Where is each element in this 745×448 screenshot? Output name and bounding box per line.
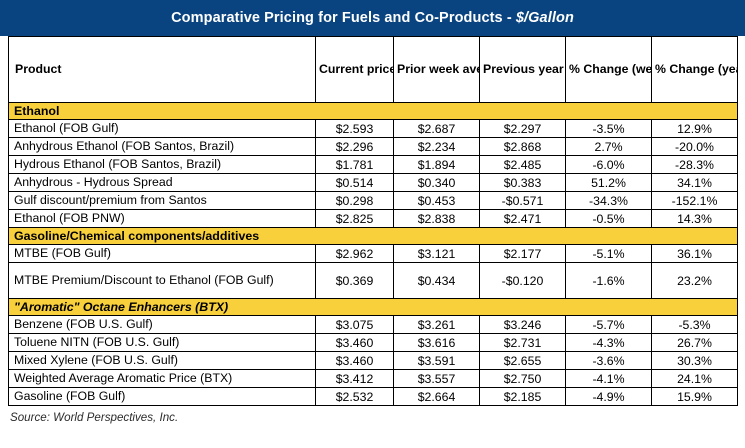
section-header-label: Ethanol <box>9 103 738 120</box>
table-row: Anhydrous - Hydrous Spread$0.514$0.340$0… <box>9 174 738 192</box>
cell-current-price: $0.369 <box>316 263 394 299</box>
cell-pct-change-year: 30.3% <box>652 352 738 370</box>
table-row: Anhydrous Ethanol (FOB Santos, Brazil)$2… <box>9 138 738 156</box>
table-row: Mixed Xylene (FOB U.S. Gulf)$3.460$3.591… <box>9 352 738 370</box>
cell-pct-change-week: 2.7% <box>566 138 652 156</box>
cell-pct-change-week: -4.3% <box>566 334 652 352</box>
cell-pct-change-week: -0.5% <box>566 210 652 228</box>
cell-current-price: $2.532 <box>316 388 394 406</box>
cell-pct-change-year: 36.1% <box>652 245 738 263</box>
table-body: EthanolEthanol (FOB Gulf)$2.593$2.687$2.… <box>9 103 738 406</box>
cell-current-price: $0.298 <box>316 192 394 210</box>
cell-current-price: $2.593 <box>316 120 394 138</box>
cell-prior-week-average: $0.434 <box>394 263 480 299</box>
cell-pct-change-year: 15.9% <box>652 388 738 406</box>
cell-previous-year: $2.471 <box>480 210 566 228</box>
cell-prior-week-average: $3.616 <box>394 334 480 352</box>
cell-product: Toluene NITN (FOB U.S. Gulf) <box>9 334 316 352</box>
table-header-row: Product Current price Prior week average… <box>9 37 738 103</box>
cell-current-price: $3.412 <box>316 370 394 388</box>
cell-previous-year: $2.731 <box>480 334 566 352</box>
table-row: Benzene (FOB U.S. Gulf)$3.075$3.261$3.24… <box>9 316 738 334</box>
cell-current-price: $0.514 <box>316 174 394 192</box>
cell-pct-change-week: -4.1% <box>566 370 652 388</box>
cell-product: Anhydrous - Hydrous Spread <box>9 174 316 192</box>
cell-previous-year: $2.485 <box>480 156 566 174</box>
section-header-label: Gasoline/Chemical components/additives <box>9 228 738 245</box>
column-header-current-price: Current price <box>316 37 394 103</box>
table-row: Ethanol (FOB PNW)$2.825$2.838$2.471-0.5%… <box>9 210 738 228</box>
cell-pct-change-year: -5.3% <box>652 316 738 334</box>
cell-pct-change-week: -6.0% <box>566 156 652 174</box>
cell-current-price: $3.460 <box>316 352 394 370</box>
cell-product: Mixed Xylene (FOB U.S. Gulf) <box>9 352 316 370</box>
cell-current-price: $2.296 <box>316 138 394 156</box>
cell-current-price: $3.075 <box>316 316 394 334</box>
cell-prior-week-average: $2.687 <box>394 120 480 138</box>
table-row: Gulf discount/premium from Santos$0.298$… <box>9 192 738 210</box>
cell-current-price: $1.781 <box>316 156 394 174</box>
cell-pct-change-week: -4.9% <box>566 388 652 406</box>
table-row: MTBE (FOB Gulf)$2.962$3.121$2.177-5.1%36… <box>9 245 738 263</box>
cell-current-price: $3.460 <box>316 334 394 352</box>
cell-prior-week-average: $1.894 <box>394 156 480 174</box>
cell-previous-year: $2.177 <box>480 245 566 263</box>
table-title-bar: Comparative Pricing for Fuels and Co-Pro… <box>0 0 745 36</box>
column-header-product: Product <box>9 37 316 103</box>
pricing-table-page: Comparative Pricing for Fuels and Co-Pro… <box>0 0 745 448</box>
cell-product: Hydrous Ethanol (FOB Santos, Brazil) <box>9 156 316 174</box>
cell-pct-change-year: -28.3% <box>652 156 738 174</box>
table-row: Toluene NITN (FOB U.S. Gulf)$3.460$3.616… <box>9 334 738 352</box>
section-header-row: Ethanol <box>9 103 738 120</box>
cell-product: Gasoline (FOB Gulf) <box>9 388 316 406</box>
section-header-row: Gasoline/Chemical components/additives <box>9 228 738 245</box>
cell-pct-change-year: 23.2% <box>652 263 738 299</box>
cell-previous-year: $2.655 <box>480 352 566 370</box>
cell-prior-week-average: $3.261 <box>394 316 480 334</box>
cell-prior-week-average: $0.453 <box>394 192 480 210</box>
cell-prior-week-average: $0.340 <box>394 174 480 192</box>
table-title-text: Comparative Pricing for Fuels and Co-Pro… <box>171 10 574 26</box>
table-row: Ethanol (FOB Gulf)$2.593$2.687$2.297-3.5… <box>9 120 738 138</box>
comparative-pricing-table: Product Current price Prior week average… <box>8 36 738 406</box>
cell-previous-year: $0.383 <box>480 174 566 192</box>
table-title-normal: Comparative Pricing for Fuels and Co-Pro… <box>171 10 516 26</box>
cell-previous-year: $2.297 <box>480 120 566 138</box>
cell-product: Ethanol (FOB PNW) <box>9 210 316 228</box>
cell-product: Anhydrous Ethanol (FOB Santos, Brazil) <box>9 138 316 156</box>
cell-previous-year: -$0.120 <box>480 263 566 299</box>
section-header-label: "Aromatic" Octane Enhancers (BTX) <box>9 299 738 316</box>
cell-previous-year: $2.185 <box>480 388 566 406</box>
table-row: Gasoline (FOB Gulf)$2.532$2.664$2.185-4.… <box>9 388 738 406</box>
table-row: Weighted Average Aromatic Price (BTX)$3.… <box>9 370 738 388</box>
cell-current-price: $2.962 <box>316 245 394 263</box>
table-header: Product Current price Prior week average… <box>9 37 738 103</box>
cell-pct-change-week: -34.3% <box>566 192 652 210</box>
cell-pct-change-year: -20.0% <box>652 138 738 156</box>
cell-pct-change-week: -5.7% <box>566 316 652 334</box>
cell-current-price: $2.825 <box>316 210 394 228</box>
cell-pct-change-week: 51.2% <box>566 174 652 192</box>
cell-product: Benzene (FOB U.S. Gulf) <box>9 316 316 334</box>
column-header-previous-year: Previous year <box>480 37 566 103</box>
cell-prior-week-average: $3.591 <box>394 352 480 370</box>
column-header-prior-week-average: Prior week average <box>394 37 480 103</box>
cell-prior-week-average: $2.234 <box>394 138 480 156</box>
cell-pct-change-week: -3.6% <box>566 352 652 370</box>
table-title-italic: $/Gallon <box>516 10 574 26</box>
column-header-pct-change-week: % Change (week over week) <box>566 37 652 103</box>
cell-pct-change-year: 26.7% <box>652 334 738 352</box>
table-row: Hydrous Ethanol (FOB Santos, Brazil)$1.7… <box>9 156 738 174</box>
cell-product: Weighted Average Aromatic Price (BTX) <box>9 370 316 388</box>
cell-pct-change-year: 14.3% <box>652 210 738 228</box>
cell-prior-week-average: $3.121 <box>394 245 480 263</box>
cell-prior-week-average: $2.838 <box>394 210 480 228</box>
cell-product: Gulf discount/premium from Santos <box>9 192 316 210</box>
cell-product: MTBE (FOB Gulf) <box>9 245 316 263</box>
table-row: MTBE Premium/Discount to Ethanol (FOB Gu… <box>9 263 738 299</box>
column-header-pct-change-year: % Change (year over year) <box>652 37 738 103</box>
cell-pct-change-week: -1.6% <box>566 263 652 299</box>
section-header-row: "Aromatic" Octane Enhancers (BTX) <box>9 299 738 316</box>
cell-pct-change-year: 24.1% <box>652 370 738 388</box>
cell-previous-year: $2.750 <box>480 370 566 388</box>
cell-pct-change-year: -152.1% <box>652 192 738 210</box>
cell-product: MTBE Premium/Discount to Ethanol (FOB Gu… <box>9 263 316 299</box>
cell-previous-year: $3.246 <box>480 316 566 334</box>
cell-pct-change-year: 12.9% <box>652 120 738 138</box>
cell-product: Ethanol (FOB Gulf) <box>9 120 316 138</box>
cell-pct-change-week: -3.5% <box>566 120 652 138</box>
cell-pct-change-year: 34.1% <box>652 174 738 192</box>
cell-previous-year: -$0.571 <box>480 192 566 210</box>
cell-pct-change-week: -5.1% <box>566 245 652 263</box>
cell-prior-week-average: $3.557 <box>394 370 480 388</box>
cell-prior-week-average: $2.664 <box>394 388 480 406</box>
source-note: Source: World Perspectives, Inc. <box>8 411 737 424</box>
cell-previous-year: $2.868 <box>480 138 566 156</box>
